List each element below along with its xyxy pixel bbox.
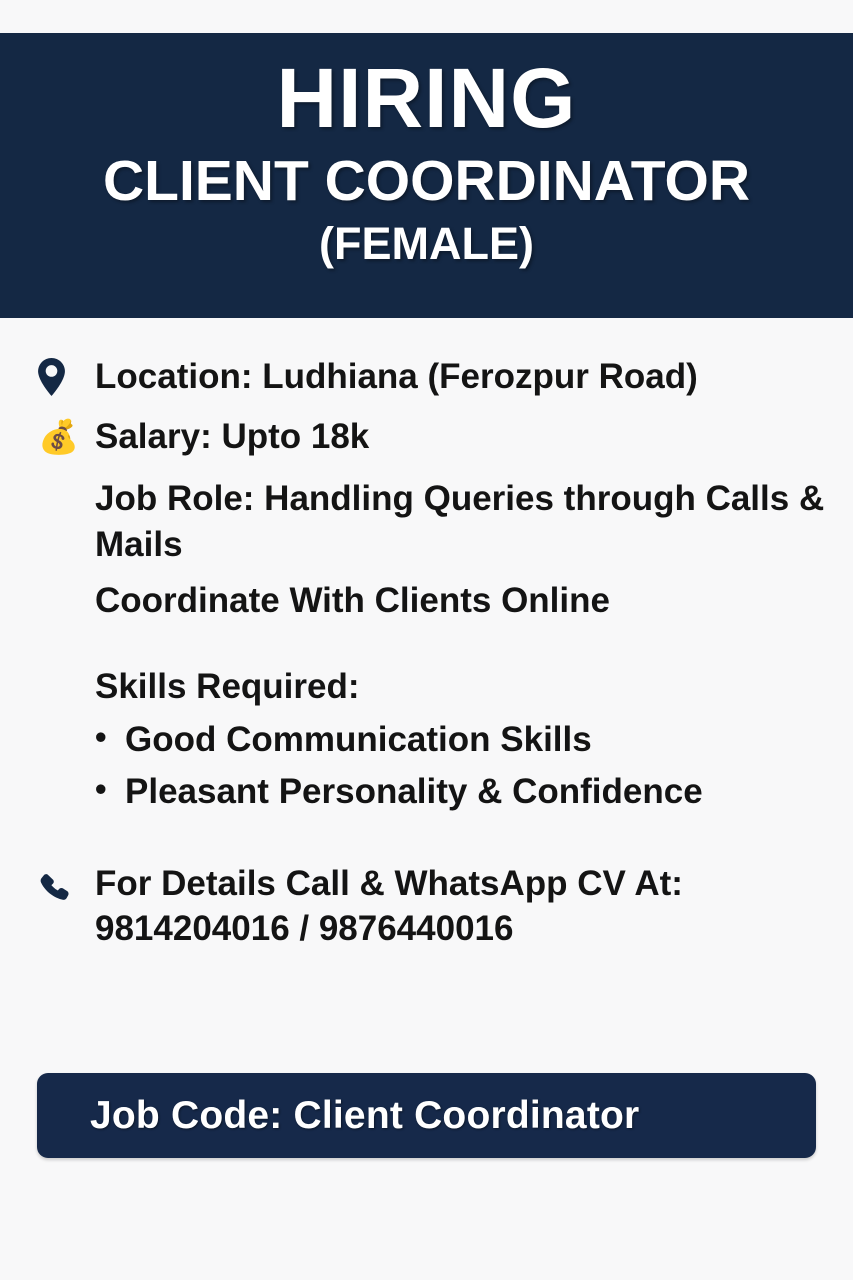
job-code-label: Job Code: Client Coordinator [90,1094,639,1138]
skills-row: Skills Required: Good Communication Skil… [0,664,853,815]
job-poster: HIRING CLIENT COORDINATOR (FEMALE) Locat… [0,0,853,1280]
skills-block: Skills Required: Good Communication Skil… [95,664,853,815]
money-bag-emoji-glyph: 💰 [38,420,79,453]
salary-text: Salary: Upto 18k [95,414,853,460]
hiring-title: HIRING [277,57,577,139]
gender-qualifier: (FEMALE) [319,220,534,267]
role-title: CLIENT COORDINATOR [103,152,750,212]
poster-body: Location: Ludhiana (Ferozpur Road) 💰 Sal… [0,318,853,952]
skills-heading: Skills Required: [95,664,831,710]
contact-block[interactable]: For Details Call & WhatsApp CV At: 98142… [95,861,853,952]
money-bag-icon: 💰 [38,414,95,462]
contact-phone-numbers[interactable]: 9814204016 / 9876440016 [95,906,831,952]
contact-instruction: For Details Call & WhatsApp CV At: [95,861,831,907]
job-code-bar: Job Code: Client Coordinator [37,1073,816,1158]
skills-icon-placeholder [38,664,95,712]
coordinate-text: Coordinate With Clients Online [95,578,853,624]
contact-row: For Details Call & WhatsApp CV At: 98142… [0,861,853,952]
list-item: Pleasant Personality & Confidence [95,769,831,815]
list-item: Good Communication Skills [95,717,831,763]
location-row: Location: Ludhiana (Ferozpur Road) [0,354,853,402]
job-role-row: Job Role: Handling Queries through Calls… [0,476,853,567]
location-pin-icon [38,354,95,402]
job-role-text: Job Role: Handling Queries through Calls… [95,476,853,567]
location-text: Location: Ludhiana (Ferozpur Road) [95,354,853,400]
phone-icon [38,861,95,909]
coordinate-icon-placeholder [38,578,95,626]
salary-row: 💰 Salary: Upto 18k [0,414,853,462]
skills-list: Good Communication Skills Pleasant Perso… [95,717,831,815]
coordinate-row: Coordinate With Clients Online [0,578,853,626]
job-role-icon-placeholder [38,476,95,524]
poster-header-band: HIRING CLIENT COORDINATOR (FEMALE) [0,33,853,318]
